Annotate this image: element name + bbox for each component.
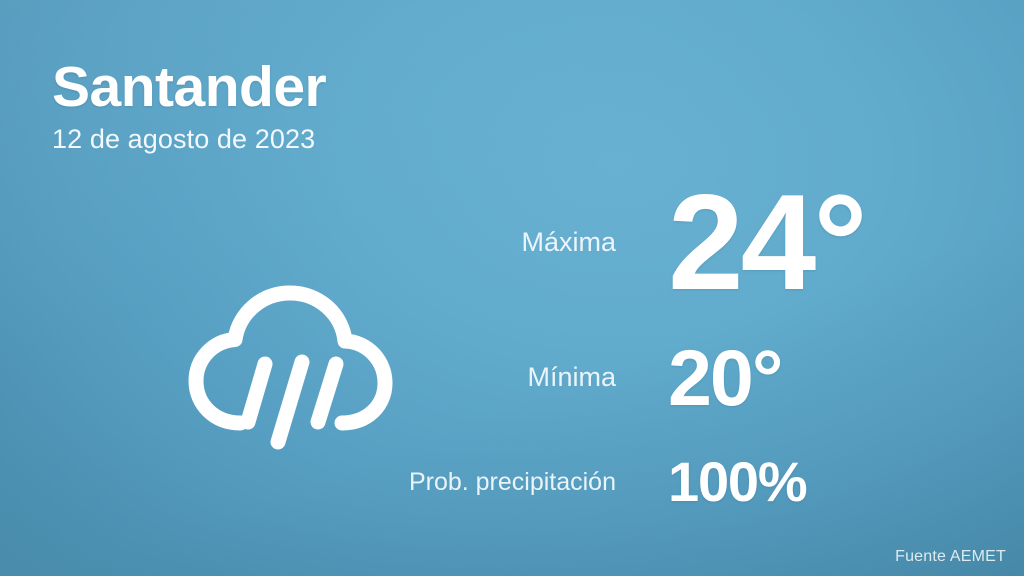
reading-value-precipitacion: 100% <box>668 454 806 510</box>
forecast-date: 12 de agosto de 2023 <box>52 125 326 155</box>
header: Santander 12 de agosto de 2023 <box>52 58 326 155</box>
readings-list: Máxima 24° Mínima 20° Prob. precipitació… <box>400 168 980 526</box>
source-attribution: Fuente AEMET <box>895 548 1006 566</box>
weather-card: Santander 12 de agosto de 2023 Máxima 24… <box>0 0 1024 576</box>
reading-row-maxima: Máxima 24° <box>400 168 980 316</box>
reading-value-minima: 20° <box>668 338 781 417</box>
reading-label-precipitacion: Prob. precipitación <box>400 468 668 497</box>
rain-cloud-icon <box>178 252 404 478</box>
reading-value-maxima: 24° <box>668 174 865 310</box>
rain-streak-left <box>248 364 265 422</box>
reading-row-precipitacion: Prob. precipitación 100% <box>400 438 980 526</box>
rain-streak-middle <box>278 362 302 442</box>
page-title: Santander <box>52 58 326 118</box>
reading-label-minima: Mínima <box>400 362 668 393</box>
rain-streak-right <box>318 364 336 422</box>
reading-row-minima: Mínima 20° <box>400 316 980 438</box>
reading-label-maxima: Máxima <box>400 227 668 258</box>
